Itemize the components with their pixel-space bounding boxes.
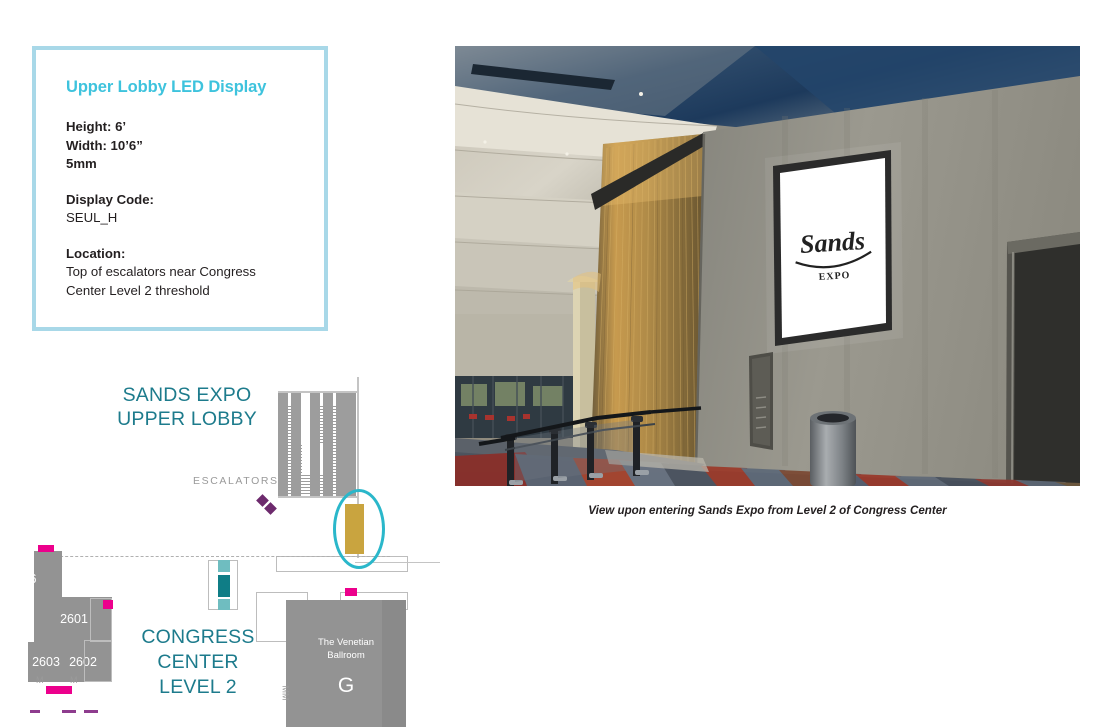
venetian-ballroom-letter: G (286, 674, 406, 698)
room-label-edge-partial: 6 (28, 572, 38, 586)
congress-line-3: LEVEL 2 (128, 675, 268, 700)
spec-width: Width: 10’6” (66, 137, 298, 156)
room-outline-right-lower (84, 640, 112, 682)
spacer (66, 228, 298, 245)
ballroom-name-line-1: The Venetian (286, 637, 406, 650)
led-display-screen: Sands EXPO (765, 142, 903, 354)
escalator-bank-graphic (278, 392, 356, 497)
elevator-marker-light (218, 560, 230, 572)
level-boundary-divider (40, 556, 390, 557)
door-marker (345, 588, 357, 596)
display-code-label: Display Code: (66, 191, 298, 210)
location-value-line1: Top of escalators near Congress (66, 263, 298, 282)
door-marker-dash (84, 710, 98, 713)
page-title: Upper Lobby LED Display (66, 78, 298, 96)
room-label-2603: 2603 (26, 655, 66, 669)
map-title-sands-expo: SANDS EXPO UPPER LOBBY (92, 383, 282, 431)
led-display-info-card: Upper Lobby LED Display Height: 6’ Width… (32, 46, 328, 331)
door-marker (103, 600, 113, 609)
photo-illustration: Sands EXPO (455, 46, 1080, 486)
door-swing-marker: M (70, 675, 78, 685)
map-wall-top (278, 391, 358, 393)
door-marker-dash (30, 710, 40, 713)
photo-caption: View upon entering Sands Expo from Level… (455, 504, 1080, 517)
door-marker-dash (62, 710, 76, 713)
room-label-2601: 2601 (54, 612, 94, 626)
spacer (66, 174, 298, 191)
location-value-line2: Center Level 2 threshold (66, 282, 298, 301)
ballroom-name-line-2: Ballroom (286, 650, 406, 663)
venetian-ballroom-shade (382, 600, 406, 727)
spec-height: Height: 6’ (66, 118, 298, 137)
spec-pixel-pitch: 5mm (66, 155, 298, 174)
info-card-body: Upper Lobby LED Display Height: 6’ Width… (36, 50, 324, 300)
led-location-highlight-ellipse (333, 489, 385, 569)
location-label: Location: (66, 245, 298, 264)
congress-line-2: CENTER (128, 650, 268, 675)
escalators-label: ESCALATORS (193, 475, 279, 487)
map-wall-vertical-right (357, 377, 359, 497)
door-swing-marker-stack: MM (281, 686, 291, 701)
elevator-marker-light (218, 599, 230, 610)
elevator-marker-dark (218, 575, 230, 597)
door-swing-marker: M (36, 675, 44, 685)
door-marker (46, 686, 72, 694)
venetian-ballroom-label: The Venetian Ballroom (286, 637, 406, 662)
display-code-value: SEUL_H (66, 209, 298, 228)
door-marker (38, 545, 54, 552)
venue-photo: Sands EXPO (455, 46, 1080, 486)
map-title-line-1: SANDS EXPO (92, 383, 282, 407)
map-title-line-2: UPPER LOBBY (92, 407, 282, 431)
congress-line-1: CONGRESS (128, 625, 268, 650)
trash-bin (810, 411, 856, 486)
map-title-congress-center: CONGRESS CENTER LEVEL 2 (128, 625, 268, 700)
room-block-left-upper (34, 551, 62, 597)
